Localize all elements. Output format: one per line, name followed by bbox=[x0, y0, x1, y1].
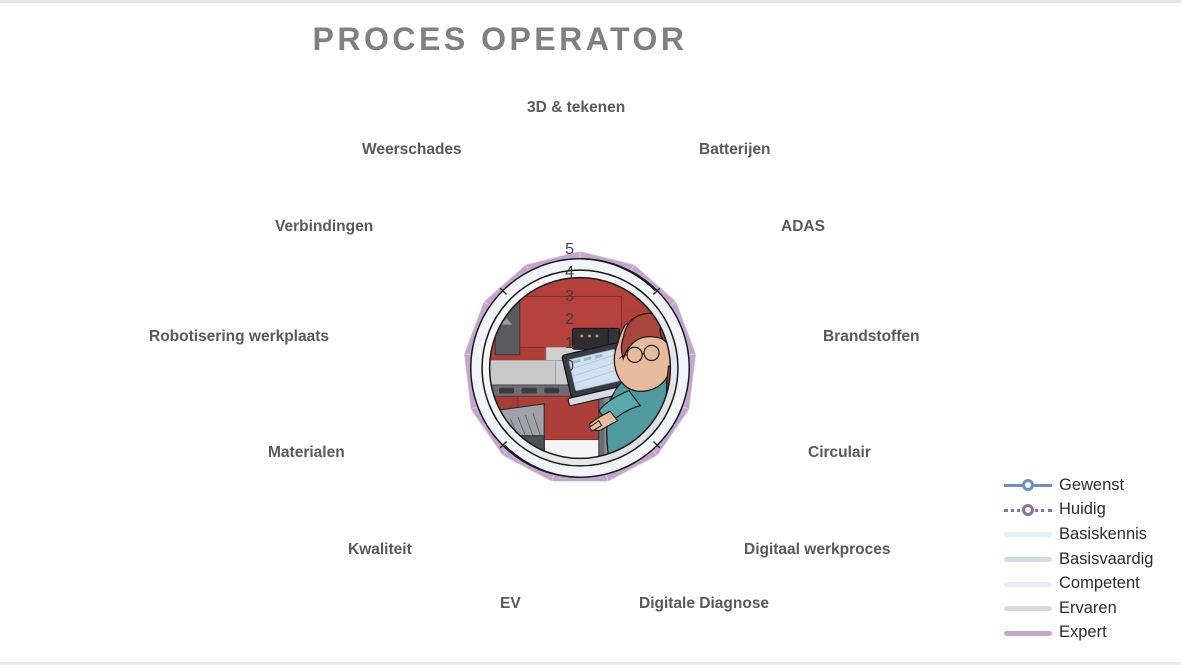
legend-marker bbox=[1022, 504, 1034, 516]
legend-label: Basiskennis bbox=[1059, 525, 1147, 544]
radial-tick-label: 4 bbox=[550, 264, 574, 282]
legend-swatch bbox=[1004, 631, 1052, 636]
radial-tick-label: 0 bbox=[550, 358, 574, 376]
chart-legend: GewenstHuidigBasiskennisBasisvaardigComp… bbox=[1002, 473, 1180, 645]
legend-item-ervaren[interactable]: Ervaren bbox=[1002, 596, 1180, 621]
legend-swatch bbox=[1004, 532, 1052, 537]
legend-key-huidig bbox=[1002, 498, 1054, 522]
legend-item-huidig[interactable]: Huidig bbox=[1002, 498, 1180, 523]
legend-key-competent bbox=[1002, 572, 1054, 596]
legend-item-basisvaardig[interactable]: Basisvaardig bbox=[1002, 547, 1180, 572]
legend-swatch bbox=[1004, 557, 1052, 562]
axis-label-digitaal-werkproces: Digitaal werkproces bbox=[744, 541, 890, 559]
legend-key-basiskennis bbox=[1002, 522, 1054, 546]
legend-swatch bbox=[1004, 606, 1052, 611]
axis-label-weerschades: Weerschades bbox=[362, 141, 462, 159]
axis-label-circulair: Circulair bbox=[808, 444, 871, 462]
chart-frame: PROCES OPERATOR bbox=[0, 0, 1181, 665]
legend-key-expert bbox=[1002, 621, 1054, 645]
axis-label-materialen: Materialen bbox=[268, 444, 345, 462]
legend-label: Competent bbox=[1059, 574, 1140, 593]
radar-chart-plot-area: 0123453D & tekenenBatterijenADASBrandsto… bbox=[0, 3, 1000, 668]
legend-label: Gewenst bbox=[1059, 476, 1124, 495]
axis-label-verbindingen: Verbindingen bbox=[275, 218, 373, 236]
legend-key-ervaren bbox=[1002, 596, 1054, 620]
legend-marker bbox=[1022, 479, 1034, 491]
radial-tick-label: 1 bbox=[550, 335, 574, 353]
radial-tick-label: 2 bbox=[550, 311, 574, 329]
illustration-svg bbox=[467, 255, 693, 481]
legend-item-expert[interactable]: Expert bbox=[1002, 621, 1180, 646]
legend-label: Basisvaardig bbox=[1059, 550, 1153, 569]
axis-label-ev: EV bbox=[500, 595, 521, 613]
legend-label: Huidig bbox=[1059, 500, 1106, 519]
legend-item-gewenst[interactable]: Gewenst bbox=[1002, 473, 1180, 498]
legend-item-basiskennis[interactable]: Basiskennis bbox=[1002, 522, 1180, 547]
radial-tick-label: 5 bbox=[550, 241, 574, 259]
legend-item-competent[interactable]: Competent bbox=[1002, 571, 1180, 596]
axis-label-robotisering-werkplaats: Robotisering werkplaats bbox=[149, 328, 329, 346]
axis-label-brandstoffen: Brandstoffen bbox=[823, 328, 919, 346]
axis-label-adas: ADAS bbox=[781, 218, 825, 236]
legend-swatch bbox=[1004, 582, 1052, 587]
axis-label-digitale-diagnose: Digitale Diagnose bbox=[639, 595, 769, 613]
legend-label: Expert bbox=[1059, 623, 1107, 642]
axis-label-batterijen: Batterijen bbox=[699, 141, 771, 159]
legend-label: Ervaren bbox=[1059, 599, 1117, 618]
legend-key-basisvaardig bbox=[1002, 547, 1054, 571]
process-operator-illustration bbox=[467, 255, 693, 481]
axis-label-3d-tekenen: 3D & tekenen bbox=[527, 99, 625, 117]
radial-tick-label: 3 bbox=[550, 288, 574, 306]
axis-label-kwaliteit: Kwaliteit bbox=[348, 541, 412, 559]
legend-key-gewenst bbox=[1002, 473, 1054, 497]
